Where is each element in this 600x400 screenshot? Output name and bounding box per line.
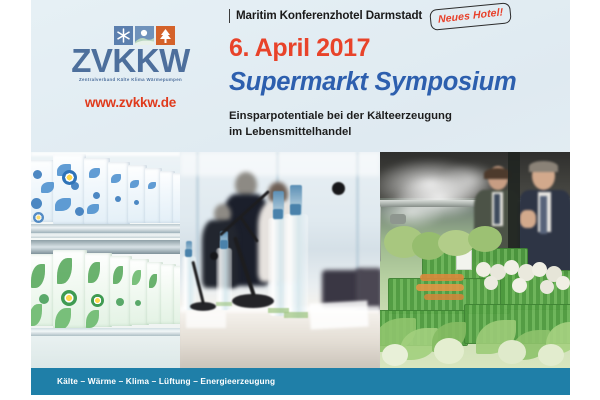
climate-icon (135, 26, 154, 45)
photo-strip (31, 152, 570, 368)
new-hotel-badge: Neues Hotel! (429, 2, 512, 31)
zvkkw-logo[interactable]: ZVKKW Zentralverband Kälte Klima Wärmepu… (58, 26, 203, 110)
event-title: Supermarkt Symposium (229, 68, 559, 96)
snowflake-icon (114, 26, 133, 45)
logo-website-url[interactable]: www.zvkkw.de (58, 95, 203, 110)
heatpump-tree-icon (156, 26, 175, 45)
event-subtitle: Einsparpotentiale bei der Kälteerzeugung… (229, 108, 559, 141)
new-hotel-badge-label: Neues Hotel! (438, 6, 504, 25)
header-text-block: Maritim Konferenzhotel Darmstadt Neues H… (229, 9, 559, 140)
footer-services-text: Kälte – Wärme – Klima – Lüftung – Energi… (57, 376, 275, 386)
event-date: 6. April 2017 (229, 35, 559, 63)
venue-name: Maritim Konferenzhotel Darmstadt (229, 9, 422, 23)
venue-row: Maritim Konferenzhotel Darmstadt Neues H… (229, 9, 559, 30)
logo-tagline: Zentralverband Kälte Klima Wärmepumpen (58, 77, 203, 82)
event-flyer: ZVKKW Zentralverband Kälte Klima Wärmepu… (31, 0, 570, 395)
event-subtitle-line2: im Lebensmittelhandel (229, 124, 559, 140)
logo-wordmark: ZVKKW (58, 46, 203, 76)
event-subtitle-line1: Einsparpotentiale bei der Kälteerzeugung (229, 108, 559, 124)
photo-conference-room (180, 152, 380, 368)
footer-bar: Kälte – Wärme – Klima – Lüftung – Energi… (31, 368, 570, 395)
flyer-header: ZVKKW Zentralverband Kälte Klima Wärmepu… (31, 0, 570, 152)
photo-vegetable-display (380, 152, 570, 368)
photo-dairy-fridge (31, 152, 180, 368)
